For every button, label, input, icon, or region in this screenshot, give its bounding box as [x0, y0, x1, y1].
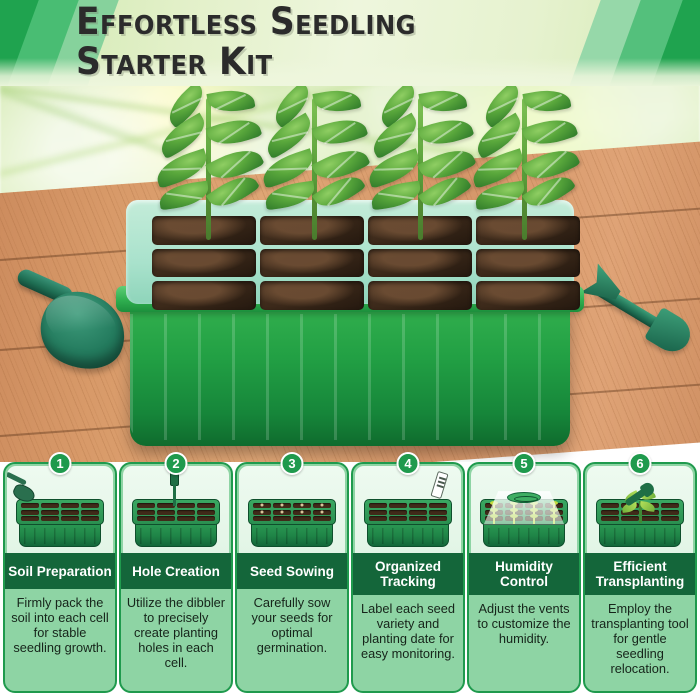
step-description: Adjust the vents to customize the humidi…	[469, 595, 579, 691]
steps-row: 1Soil PreparationFirmly pack the soil in…	[0, 462, 700, 700]
tray-cell-grid	[152, 216, 580, 310]
seed-dot	[300, 504, 303, 507]
step-number-badge: 5	[513, 452, 536, 475]
step-title: Soil Preparation	[5, 553, 115, 589]
step-description: Carefully sow your seeds for optimal ger…	[237, 589, 347, 691]
vent-icon	[507, 492, 541, 503]
tray-cell	[476, 216, 580, 245]
step-description: Employ the transplanting tool for gentle…	[585, 595, 695, 691]
step-number-badge: 6	[629, 452, 652, 475]
tray-cell	[368, 249, 472, 278]
step-card-4[interactable]: 4Organized TrackingLabel each seed varie…	[351, 462, 465, 693]
seed-dot	[300, 510, 303, 513]
tray-cell	[368, 281, 472, 310]
step-title: Humidity Control	[469, 553, 579, 595]
step-title: Efficient Transplanting	[585, 553, 695, 595]
step-number-badge: 2	[165, 452, 188, 475]
step-card-2[interactable]: 2Hole CreationUtilize the dibbler to pre…	[119, 462, 233, 693]
step-title: Hole Creation	[121, 553, 231, 589]
step-card-5[interactable]: 5Humidity ControlAdjust the vents to cus…	[467, 462, 581, 693]
step-description: Utilize the dibbler to precisely create …	[121, 589, 231, 691]
step-title: Organized Tracking	[353, 553, 463, 595]
tray-with-label-icon	[355, 466, 461, 553]
step-number-badge: 3	[281, 452, 304, 475]
tray-with-dome-icon	[471, 466, 577, 553]
tray-cell	[152, 249, 256, 278]
tray-with-seedling-icon	[587, 466, 693, 553]
seed-dot	[281, 504, 284, 507]
seedling-icon	[620, 489, 660, 523]
seed-dot	[281, 510, 284, 513]
tray-cell	[260, 281, 364, 310]
step-card-3[interactable]: 3Seed SowingCarefully sow your seeds for…	[235, 462, 349, 693]
step-card-6[interactable]: 6Efficient TransplantingEmploy the trans…	[583, 462, 697, 693]
tray-with-scoop-icon	[7, 466, 113, 553]
tray-ribs	[130, 314, 570, 440]
title-line-2: Starter Kit	[76, 42, 416, 82]
tray-with-dibbler-icon	[123, 466, 229, 553]
scoop-icon	[11, 472, 45, 506]
seed-dot	[320, 510, 323, 513]
step-card-1[interactable]: 1Soil PreparationFirmly pack the soil in…	[3, 462, 117, 693]
title-line-1: Effortless Seedling	[76, 2, 416, 42]
tray-insert-lid	[126, 200, 574, 304]
step-number-badge: 4	[397, 452, 420, 475]
step-description: Label each seed variety and planting dat…	[353, 595, 463, 691]
step-number-badge: 1	[49, 452, 72, 475]
seedling-tray	[110, 190, 590, 450]
seed-dot	[261, 504, 264, 507]
seed-dot	[261, 510, 264, 513]
product-infographic: Effortless Seedling Starter Kit 1Soil Pr…	[0, 0, 700, 700]
tray-cell	[476, 281, 580, 310]
seed-dot	[320, 504, 323, 507]
page-title: Effortless Seedling Starter Kit	[76, 2, 442, 82]
header-banner: Effortless Seedling Starter Kit	[0, 0, 700, 86]
tray-cell	[260, 249, 364, 278]
step-description: Firmly pack the soil into each cell for …	[5, 589, 115, 691]
tray-cell	[152, 281, 256, 310]
tray-cell	[476, 249, 580, 278]
mini-tray-illustration	[248, 489, 336, 547]
tray-with-seeds-icon	[239, 466, 345, 553]
tray-cell	[152, 216, 256, 245]
step-title: Seed Sowing	[237, 553, 347, 589]
